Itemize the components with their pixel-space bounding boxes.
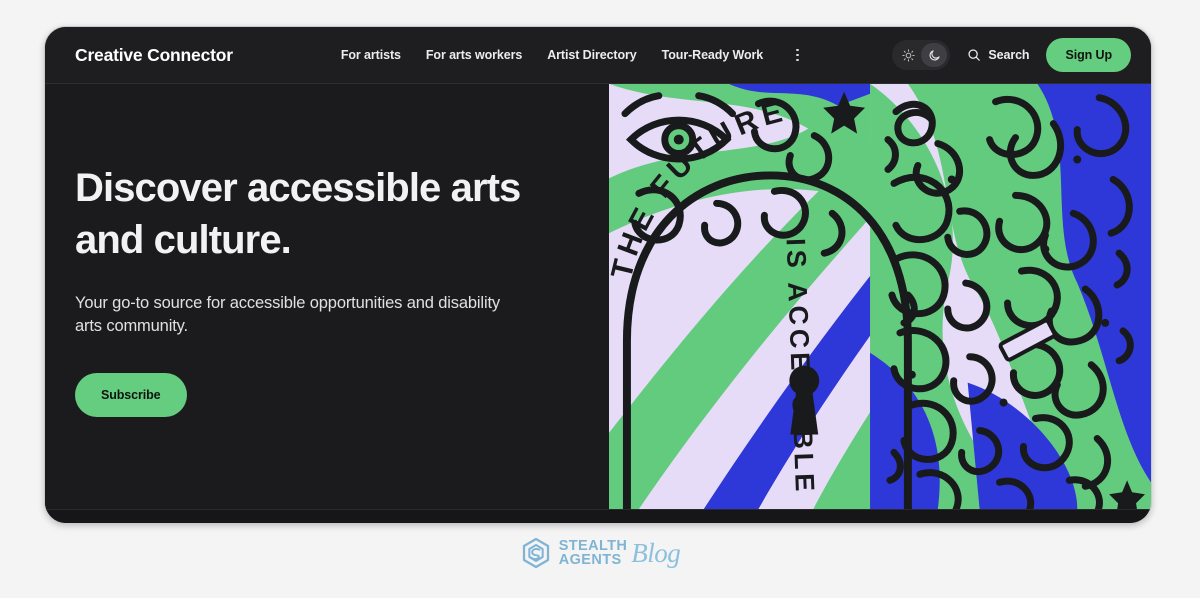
moon-icon[interactable] (921, 43, 947, 67)
kebab-menu-icon[interactable] (790, 45, 805, 66)
the-future-is-accessible-illustration: THE FUTURE IS ACCESSIBLE (609, 84, 1151, 509)
hero-text-panel: Discover accessible arts and culture. Yo… (45, 84, 609, 509)
nav-link-tour-ready-work[interactable]: Tour-Ready Work (662, 48, 764, 62)
stealth-agents-blog-watermark: STEALTH AGENTS Blog (0, 537, 1200, 569)
navbar-actions: Search Sign Up (892, 38, 1131, 72)
artwork-svg: THE FUTURE IS ACCESSIBLE (609, 84, 1151, 509)
search-label: Search (988, 48, 1029, 62)
subscribe-button[interactable]: Subscribe (75, 373, 187, 417)
search-button[interactable]: Search (967, 48, 1029, 62)
nav-link-for-arts-workers[interactable]: For arts workers (426, 48, 522, 62)
device-bottom-bezel (45, 509, 1151, 523)
hero-section: Discover accessible arts and culture. Yo… (45, 84, 1151, 509)
watermark-line-2: AGENTS (559, 553, 628, 567)
stealth-agents-hex-logo (520, 537, 552, 569)
site-brand-logo[interactable]: Creative Connector (75, 45, 233, 66)
search-icon (967, 48, 981, 62)
sun-icon[interactable] (895, 43, 921, 67)
watermark-line-1: STEALTH (559, 539, 628, 553)
theme-toggle[interactable] (892, 40, 950, 70)
nav-link-for-artists[interactable]: For artists (341, 48, 401, 62)
hero-subtitle: Your go-to source for accessible opportu… (75, 292, 527, 339)
primary-navigation: For artists For arts workers Artist Dire… (341, 45, 805, 66)
watermark-script-blog: Blog (631, 538, 680, 569)
watermark-wordmark: STEALTH AGENTS (559, 539, 628, 567)
sign-up-button[interactable]: Sign Up (1046, 38, 1131, 72)
site-navbar: Creative Connector For artists For arts … (45, 27, 1151, 84)
browser-window-frame: Creative Connector For artists For arts … (44, 26, 1152, 524)
nav-link-artist-directory[interactable]: Artist Directory (547, 48, 636, 62)
hero-title: Discover accessible arts and culture. (75, 162, 569, 266)
